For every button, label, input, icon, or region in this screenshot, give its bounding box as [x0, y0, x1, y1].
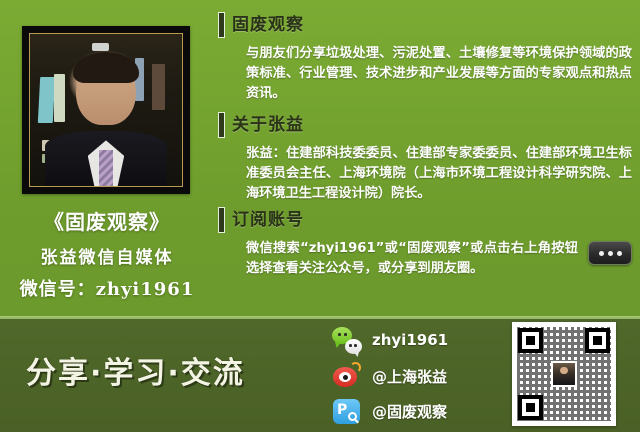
- section-about-person: 关于张益 张益：住建部科技委委员、住建部专家委委员、住建部环境卫生标准委员会主任…: [214, 110, 640, 204]
- section-body: 张益：住建部科技委委员、住建部专家委委员、住建部环境卫生标准委员会主任、上海环境…: [246, 144, 632, 204]
- qr-center-portrait: [553, 363, 575, 385]
- dot-icon: [599, 251, 604, 256]
- section-header: 固废观察: [214, 10, 640, 40]
- person-tie: [99, 150, 113, 186]
- social-row-weibo[interactable]: @上海张益: [332, 360, 502, 392]
- social-label: @固废观察: [372, 401, 447, 422]
- wechat-icon: [332, 325, 362, 355]
- qr-finder-icon: [518, 328, 543, 353]
- section-heading: 订阅账号: [232, 205, 304, 230]
- search-icon: P: [332, 396, 362, 426]
- dot-icon: [608, 251, 613, 256]
- qr-center-logo: [551, 361, 577, 387]
- background-book: [152, 64, 166, 110]
- caption-title: 《固废观察》: [0, 206, 214, 235]
- section-marker-icon: [218, 12, 225, 38]
- qr-finder-icon: [518, 395, 543, 420]
- slogan-text: 分享·学习·交流: [26, 348, 245, 392]
- social-row-search[interactable]: P @固废观察: [332, 395, 502, 427]
- section-subscribe: 订阅账号 微信搜索“zhyi1961”或“固废观察”或点击右上角按钮选择查看关注…: [214, 205, 640, 279]
- section-about-channel: 固废观察 与朋友们分享垃圾处理、污泥处置、土壤修复等环境保护领域的政策标准、行业…: [214, 10, 640, 104]
- sections-column: 固废观察 与朋友们分享垃圾处理、污泥处置、土壤修复等环境保护领域的政策标准、行业…: [214, 0, 640, 318]
- portrait-inner-border: [29, 33, 183, 187]
- qr-finder-icon: [585, 328, 610, 353]
- section-marker-icon: [218, 112, 225, 138]
- caption-subtitle: 张益微信自媒体: [0, 243, 214, 268]
- qr-code-image: [517, 327, 611, 421]
- social-label: zhyi1961: [372, 331, 448, 349]
- section-heading: 关于张益: [232, 110, 304, 135]
- more-options-button[interactable]: [588, 241, 632, 265]
- section-marker-icon: [218, 207, 225, 233]
- person-hair: [73, 52, 140, 82]
- background-light: [92, 43, 109, 51]
- promo-card: 《固废观察》 张益微信自媒体 微信号：zhyi1961 固废观察 与朋友们分享垃…: [0, 0, 640, 432]
- section-heading: 固废观察: [232, 10, 304, 35]
- portrait-frame: [22, 26, 190, 194]
- background-book: [54, 74, 65, 123]
- social-label: @上海张益: [372, 366, 447, 387]
- dot-icon: [617, 251, 622, 256]
- section-header: 订阅账号: [214, 205, 640, 235]
- qr-code[interactable]: [512, 322, 616, 426]
- profile-column: 《固废观察》 张益微信自媒体 微信号：zhyi1961: [0, 0, 214, 318]
- section-header: 关于张益: [214, 110, 640, 140]
- background-book: [38, 77, 56, 123]
- social-list: zhyi1961 @上海张益 P @固废观察: [332, 320, 502, 430]
- section-body: 微信搜索“zhyi1961”或“固废观察”或点击右上角按钮选择查看关注公众号，或…: [246, 239, 578, 279]
- social-row-wechat[interactable]: zhyi1961: [332, 324, 502, 356]
- section-body: 与朋友们分享垃圾处理、污泥处置、土壤修复等环境保护领域的政策标准、行业管理、技术…: [246, 44, 632, 104]
- portrait-photo: [30, 34, 182, 186]
- caption-wechat-id: 微信号：zhyi1961: [0, 275, 214, 301]
- weibo-icon: [332, 361, 362, 391]
